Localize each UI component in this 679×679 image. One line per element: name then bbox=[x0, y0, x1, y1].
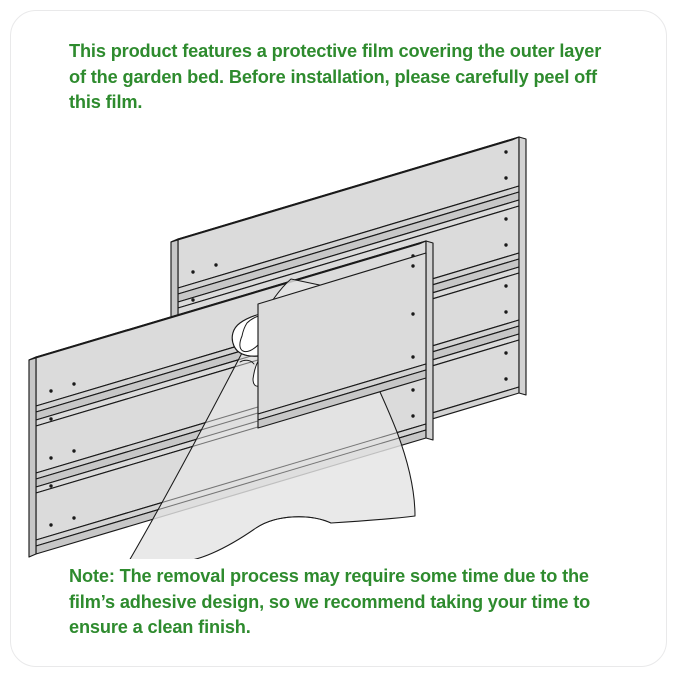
instruction-primary-text: This product features a protective film … bbox=[69, 39, 615, 116]
garden-bed-film-peel-illustration: .ln { fill:none; stroke:#1a1a1a; stroke-… bbox=[11, 114, 668, 559]
instruction-card: This product features a protective film … bbox=[10, 10, 667, 667]
instruction-note-text: Note: The removal process may require so… bbox=[69, 564, 615, 641]
